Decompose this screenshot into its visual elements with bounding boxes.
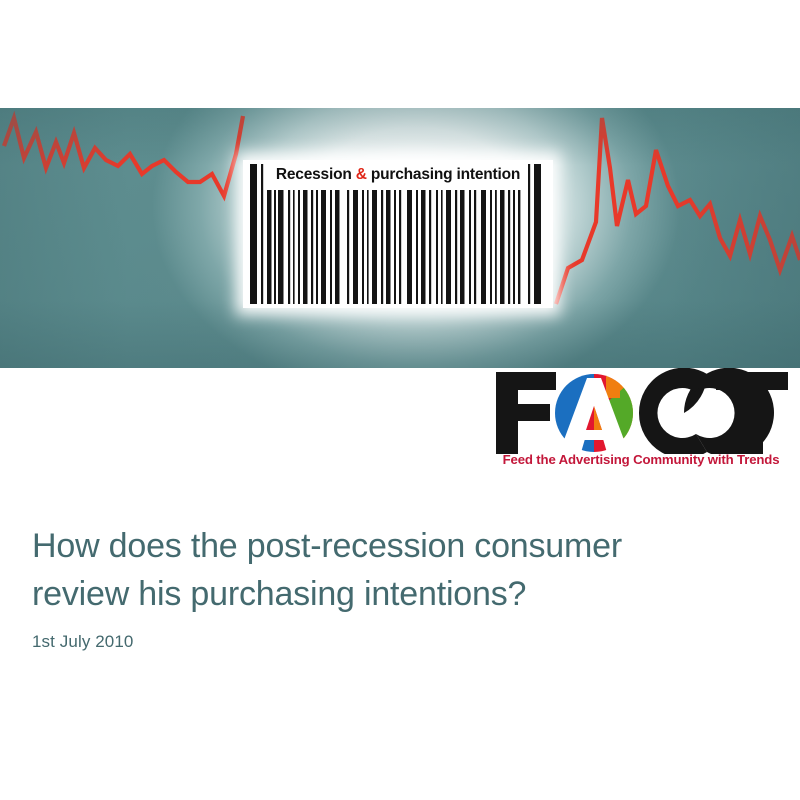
hero-banner-image: Recession & purchasing intention — [0, 108, 800, 368]
trend-line-left — [4, 116, 243, 196]
page-title-line-1: How does the post-recession consumer — [32, 527, 622, 565]
barcode-title-post: purchasing intention — [367, 166, 520, 183]
title-block: How does the post-recession consumer rev… — [32, 522, 772, 652]
trend-line-right — [556, 118, 800, 304]
barcode-title-ampersand: & — [356, 166, 367, 183]
logo-letter-f-icon — [496, 372, 556, 454]
presentation-title-slide: Recession & purchasing intention — [0, 0, 800, 800]
barcode-graphic: Recession & purchasing intention — [243, 160, 553, 308]
barcode-title-text: Recession & purchasing intention — [243, 165, 553, 185]
fact-logo-mark — [488, 368, 794, 454]
barcode-title-pre: Recession — [276, 166, 356, 183]
page-title-line-2: review his purchasing intentions? — [32, 575, 526, 613]
fact-logo: Feed the Advertising Community with Tren… — [488, 368, 794, 480]
slide-date: 1st July 2010 — [32, 632, 772, 652]
page-title: How does the post-recession consumer rev… — [32, 522, 772, 618]
fact-logo-tagline: Feed the Advertising Community with Tren… — [488, 452, 794, 467]
